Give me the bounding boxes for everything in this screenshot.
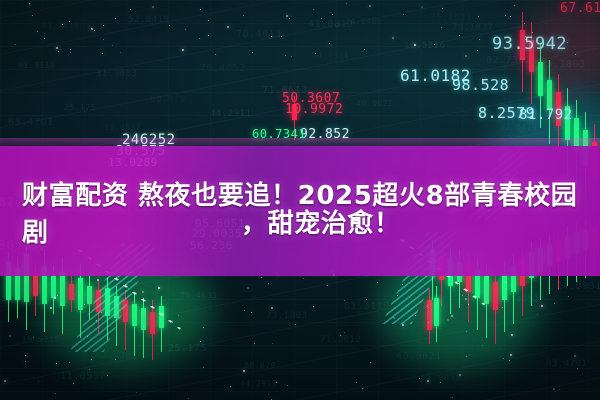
headline-line-2: ，甜宠治愈！ [241, 203, 401, 240]
banner-image: 93.594261.018298.5288.257981.79267.61850… [0, 0, 600, 400]
headline-group: 财富配资 熬夜也要追！2025超火8部青春校园剧 ，甜宠治愈！ [0, 0, 600, 400]
